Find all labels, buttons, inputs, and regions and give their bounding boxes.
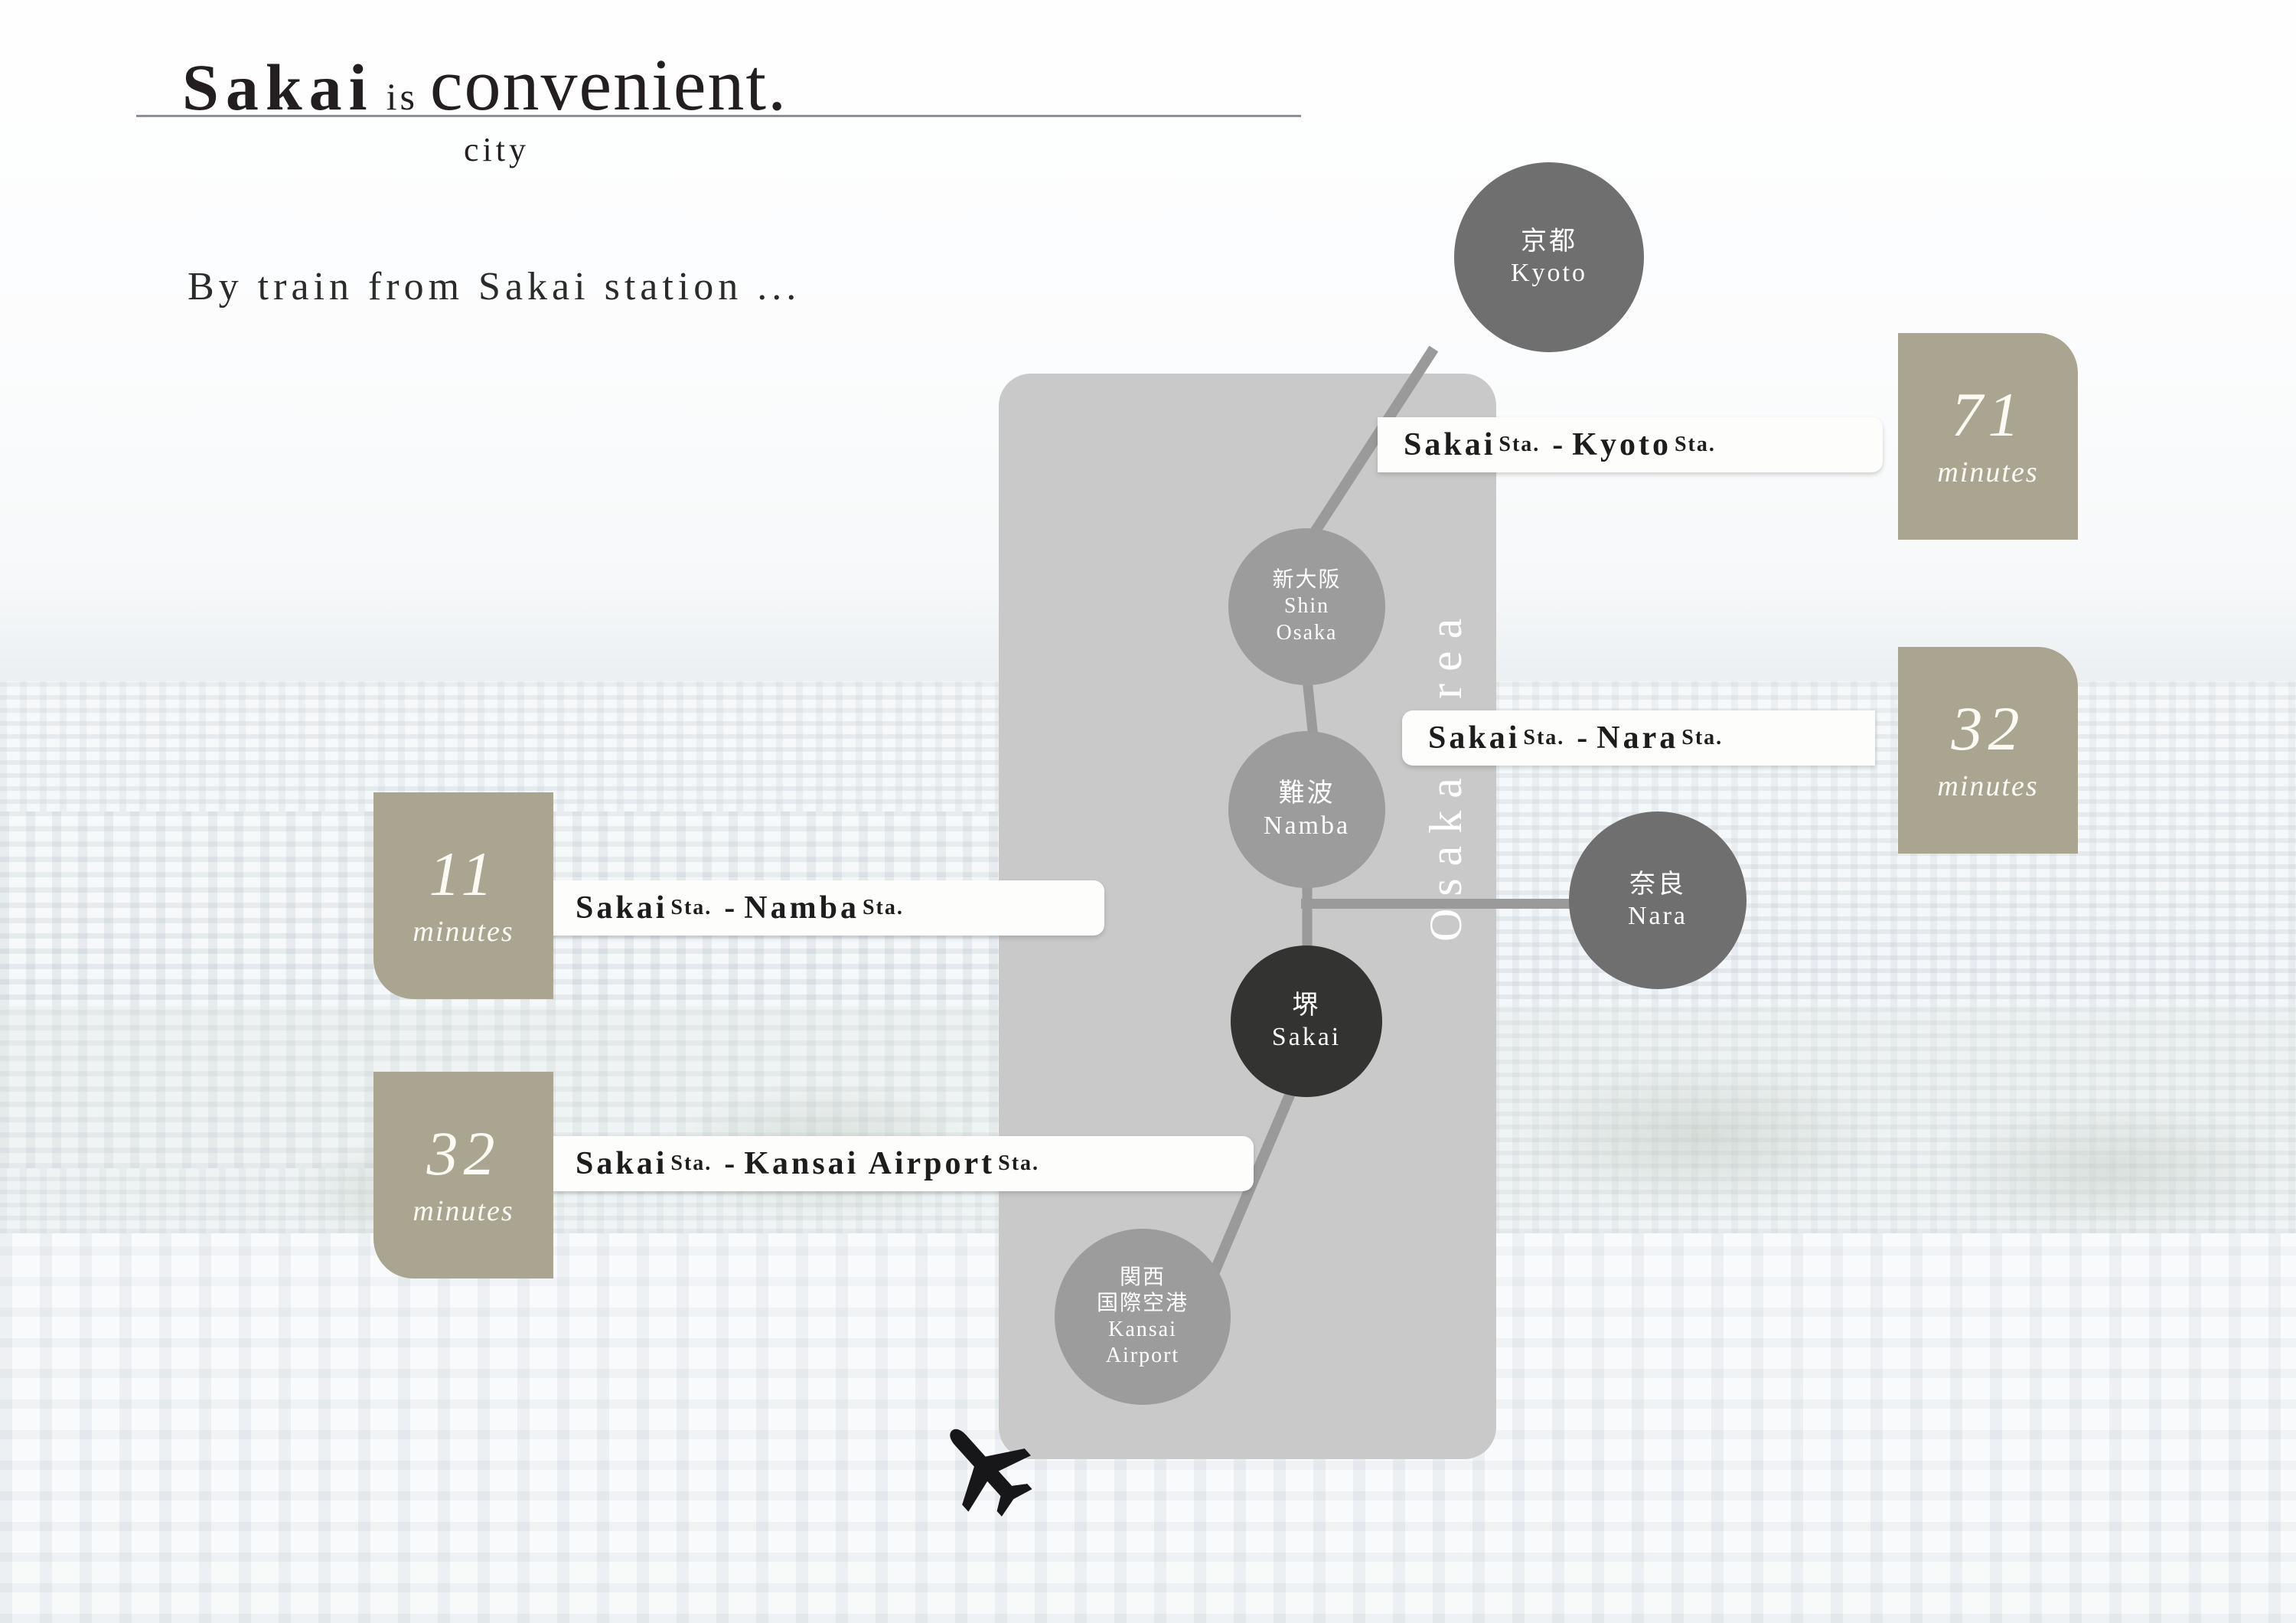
route-from-suffix: Sta.: [667, 1151, 715, 1176]
route-dash: -: [1543, 426, 1572, 463]
duration-unit: minutes: [413, 915, 514, 949]
page-title: Sakaiisconvenient.: [182, 42, 788, 127]
station-label-en-line2: Airport: [1106, 1343, 1179, 1369]
station-label-en-line1: Shin: [1284, 593, 1329, 619]
station-node-kyoto[interactable]: 京都 Kyoto: [1454, 162, 1644, 352]
station-node-nara[interactable]: 奈良 Nara: [1569, 811, 1746, 989]
route-from: Sakai: [1428, 720, 1520, 756]
station-node-sakai[interactable]: 堺 Sakai: [1231, 945, 1382, 1097]
station-label-en: Namba: [1264, 810, 1350, 841]
station-node-shin-osaka[interactable]: 新大阪 Shin Osaka: [1228, 528, 1385, 685]
route-to-suffix: Sta.: [995, 1151, 1042, 1176]
route-to-suffix: Sta.: [859, 896, 907, 920]
station-label-jp-line1: 関西: [1120, 1265, 1166, 1291]
title-sakai: Sakai: [182, 51, 374, 124]
station-label-jp-line2: 国際空港: [1097, 1291, 1189, 1317]
route-label-namba: Sakai Sta. - Namba Sta.: [550, 880, 1104, 936]
station-label-jp: 新大阪: [1272, 567, 1341, 593]
route-from-suffix: Sta.: [1495, 433, 1543, 457]
route-from: Sakai: [576, 890, 667, 926]
duration-badge-kansai-airport: 32 minutes: [373, 1072, 553, 1278]
station-label-en: Kyoto: [1511, 257, 1587, 289]
title-subscript-city: city: [464, 130, 530, 169]
page-subtitle: By train from Sakai station ...: [188, 264, 801, 309]
route-dash: -: [715, 1145, 744, 1182]
osaka-area-label: Osaka Area: [1420, 606, 1473, 942]
airplane-icon: [930, 1412, 1045, 1527]
duration-unit: minutes: [1937, 769, 2038, 803]
title-convenient: convenient.: [430, 44, 788, 126]
duration-unit: minutes: [413, 1194, 514, 1228]
duration-badge-kyoto: 71 minutes: [1898, 333, 2078, 540]
route-label-kyoto: Sakai Sta. - Kyoto Sta.: [1378, 417, 1883, 472]
route-label-kansai-airport: Sakai Sta. - Kansai Airport Sta.: [550, 1136, 1254, 1191]
route-from-suffix: Sta.: [1520, 726, 1567, 750]
station-label-jp: 奈良: [1629, 869, 1686, 900]
station-label-jp: 京都: [1521, 226, 1577, 257]
route-from: Sakai: [1404, 426, 1495, 463]
duration-badge-namba: 11 minutes: [373, 792, 553, 999]
duration-badge-nara: 32 minutes: [1898, 647, 2078, 854]
duration-minutes: 32: [1952, 697, 2025, 760]
duration-minutes: 32: [427, 1122, 501, 1185]
station-label-en-line1: Kansai: [1108, 1317, 1177, 1343]
route-to: Kyoto: [1572, 426, 1671, 463]
route-to: Nara: [1596, 720, 1678, 756]
station-label-en-line2: Osaka: [1277, 620, 1338, 646]
duration-minutes: 71: [1952, 384, 2025, 446]
route-dash: -: [715, 890, 744, 926]
infographic-root: Sakaiisconvenient. city By train from Sa…: [0, 0, 2296, 1623]
route-to: Namba: [744, 890, 859, 926]
route-from-suffix: Sta.: [667, 896, 715, 920]
duration-unit: minutes: [1937, 456, 2038, 489]
duration-minutes: 11: [429, 843, 498, 906]
title-is: is: [374, 75, 430, 118]
route-label-nara: Sakai Sta. - Nara Sta.: [1402, 710, 1875, 766]
station-node-namba[interactable]: 難波 Namba: [1228, 731, 1385, 888]
station-label-jp: 難波: [1279, 778, 1336, 809]
line-sakai-nara: [1301, 899, 1615, 909]
route-dash: -: [1567, 720, 1596, 756]
station-label-jp: 堺: [1293, 990, 1321, 1021]
route-to: Kansai Airport: [744, 1145, 995, 1182]
route-to-suffix: Sta.: [1671, 433, 1719, 457]
route-to-suffix: Sta.: [1678, 726, 1726, 750]
route-from: Sakai: [576, 1145, 667, 1182]
station-label-en: Nara: [1628, 900, 1688, 932]
station-node-kansai-airport[interactable]: 関西 国際空港 Kansai Airport: [1055, 1229, 1231, 1405]
station-label-en: Sakai: [1272, 1021, 1342, 1053]
